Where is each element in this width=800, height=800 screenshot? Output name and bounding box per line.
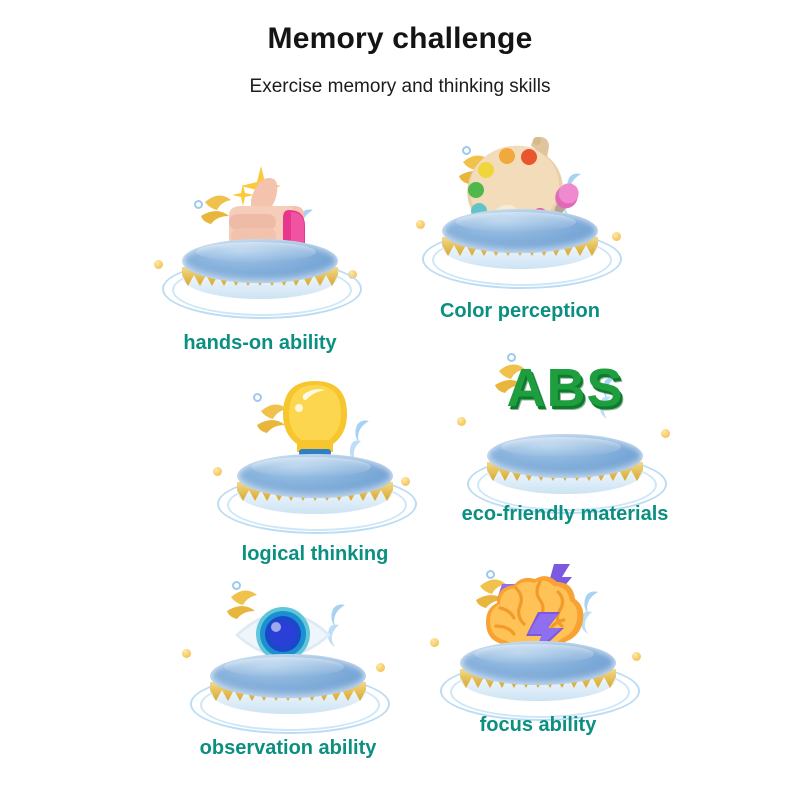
feature-label: eco-friendly materials: [435, 503, 695, 526]
feature-label: hands-on ability: [130, 332, 390, 355]
pedestal-gloss: [196, 242, 316, 262]
pedestal-gloss: [251, 457, 371, 477]
feature-hands-on-ability[interactable]: hands-on ability: [130, 150, 390, 380]
pedestal: [215, 448, 415, 534]
feature-icon-stage: ABS: [435, 345, 695, 520]
feature-label: observation ability: [158, 737, 418, 760]
feature-eco-friendly-materials[interactable]: ABS eco-friendly materials: [435, 345, 695, 575]
feature-logical-thinking[interactable]: logical thinking: [185, 365, 445, 595]
feature-icon-stage: [158, 565, 418, 740]
page-subtitle: Exercise memory and thinking skills: [0, 76, 800, 98]
pedestal-gloss: [224, 657, 344, 677]
memory-challenge-infographic: Memory challenge Exercise memory and thi…: [0, 0, 800, 800]
feature-icon-stage: [130, 150, 390, 325]
pedestal: [420, 203, 620, 289]
pedestal: [188, 648, 388, 734]
feature-observation-ability[interactable]: observation ability: [158, 565, 418, 795]
feature-icon-stage: [408, 552, 668, 727]
feature-label: focus ability: [408, 714, 668, 737]
pedestal-gloss: [474, 644, 594, 664]
page-title: Memory challenge: [0, 22, 800, 56]
pedestal: [160, 233, 360, 319]
pedestal-gloss: [456, 212, 576, 232]
feature-label: Color perception: [390, 300, 650, 323]
abs-badge-text: ABS: [506, 361, 623, 415]
feature-icon-stage: [185, 365, 445, 540]
feature-focus-ability[interactable]: focus ability: [408, 552, 668, 782]
feature-label: logical thinking: [185, 543, 445, 566]
pedestal: [438, 635, 638, 721]
pedestal: [465, 428, 665, 514]
pedestal-gloss: [501, 437, 621, 457]
feature-color-perception[interactable]: Color perception: [390, 120, 650, 350]
feature-icon-stage: [390, 120, 650, 295]
